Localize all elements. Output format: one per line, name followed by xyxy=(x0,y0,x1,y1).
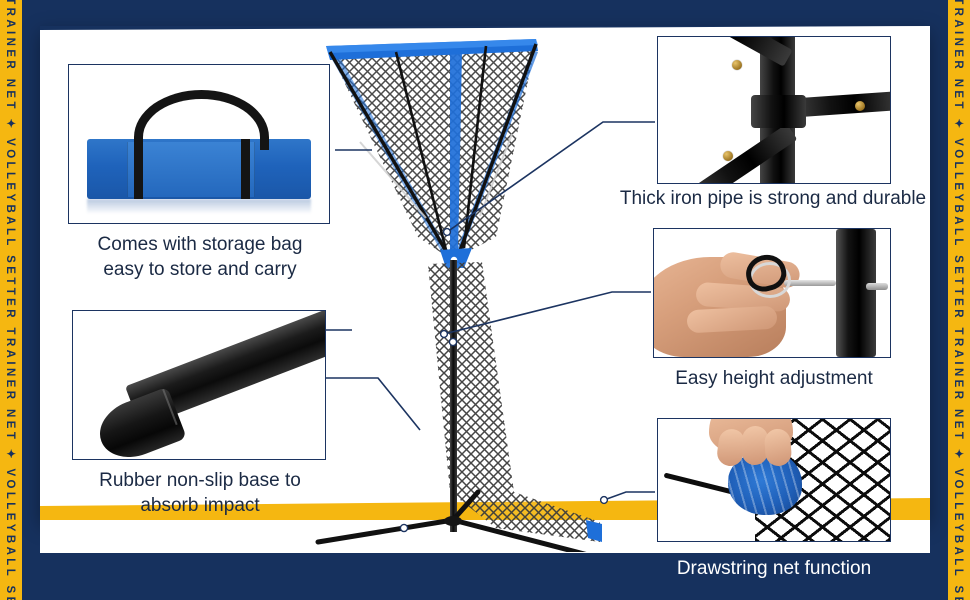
panel-storage-bag xyxy=(68,64,330,224)
bag-reflection xyxy=(87,199,311,213)
poster-root: Comes with storage bag easy to store and… xyxy=(0,0,970,600)
panel-drawstring-net xyxy=(657,418,891,542)
ribbon-right-text: VOLLEYBALL SETTER TRAINER NET ✦ VOLLEYBA… xyxy=(952,0,966,600)
caption-rubber-base: Rubber non-slip base to absorb impact xyxy=(58,468,342,518)
finger-b xyxy=(741,426,768,466)
bag-handle xyxy=(134,90,269,150)
caption-iron-pipe: Thick iron pipe is strong and durable xyxy=(600,186,946,211)
finger-c xyxy=(763,428,791,466)
caption-height-adjustment: Easy height adjustment xyxy=(624,366,924,391)
caption-storage-bag: Comes with storage bag easy to store and… xyxy=(58,232,342,282)
caption-iron-pipe-line1: Thick iron pipe is strong and durable xyxy=(600,186,946,211)
screw-upper-left xyxy=(732,60,742,70)
ribbon-right: VOLLEYBALL SETTER TRAINER NET ✦ VOLLEYBA… xyxy=(948,0,970,600)
drawstring-net-photo xyxy=(658,419,890,541)
caption-rubber-base-line2: absorb impact xyxy=(58,493,342,518)
adjustable-pole xyxy=(836,229,876,357)
height-adjustment-photo xyxy=(654,229,890,357)
caption-storage-bag-line2: easy to store and carry xyxy=(58,257,342,282)
caption-drawstring-net: Drawstring net function xyxy=(624,556,924,581)
rubber-base-photo xyxy=(73,311,325,459)
iron-pipe-photo xyxy=(658,37,890,183)
panel-height-adjustment xyxy=(653,228,891,358)
caption-height-adjustment-line1: Easy height adjustment xyxy=(624,366,924,391)
caption-drawstring-net-line1: Drawstring net function xyxy=(624,556,924,581)
storage-bag-photo xyxy=(69,65,329,223)
pin-shaft xyxy=(784,280,836,286)
panel-iron-pipe xyxy=(657,36,891,184)
pin-stub xyxy=(866,283,887,290)
pipe-collar xyxy=(751,95,807,127)
ribbon-left: VOLLEYBALL SETTER TRAINER NET ✦ VOLLEYBA… xyxy=(0,0,22,600)
panel-rubber-base xyxy=(72,310,326,460)
caption-storage-bag-line1: Comes with storage bag xyxy=(58,232,342,257)
screw-lower-left xyxy=(723,151,733,161)
ribbon-left-text: VOLLEYBALL SETTER TRAINER NET ✦ VOLLEYBA… xyxy=(4,0,18,600)
caption-rubber-base-line1: Rubber non-slip base to xyxy=(58,468,342,493)
